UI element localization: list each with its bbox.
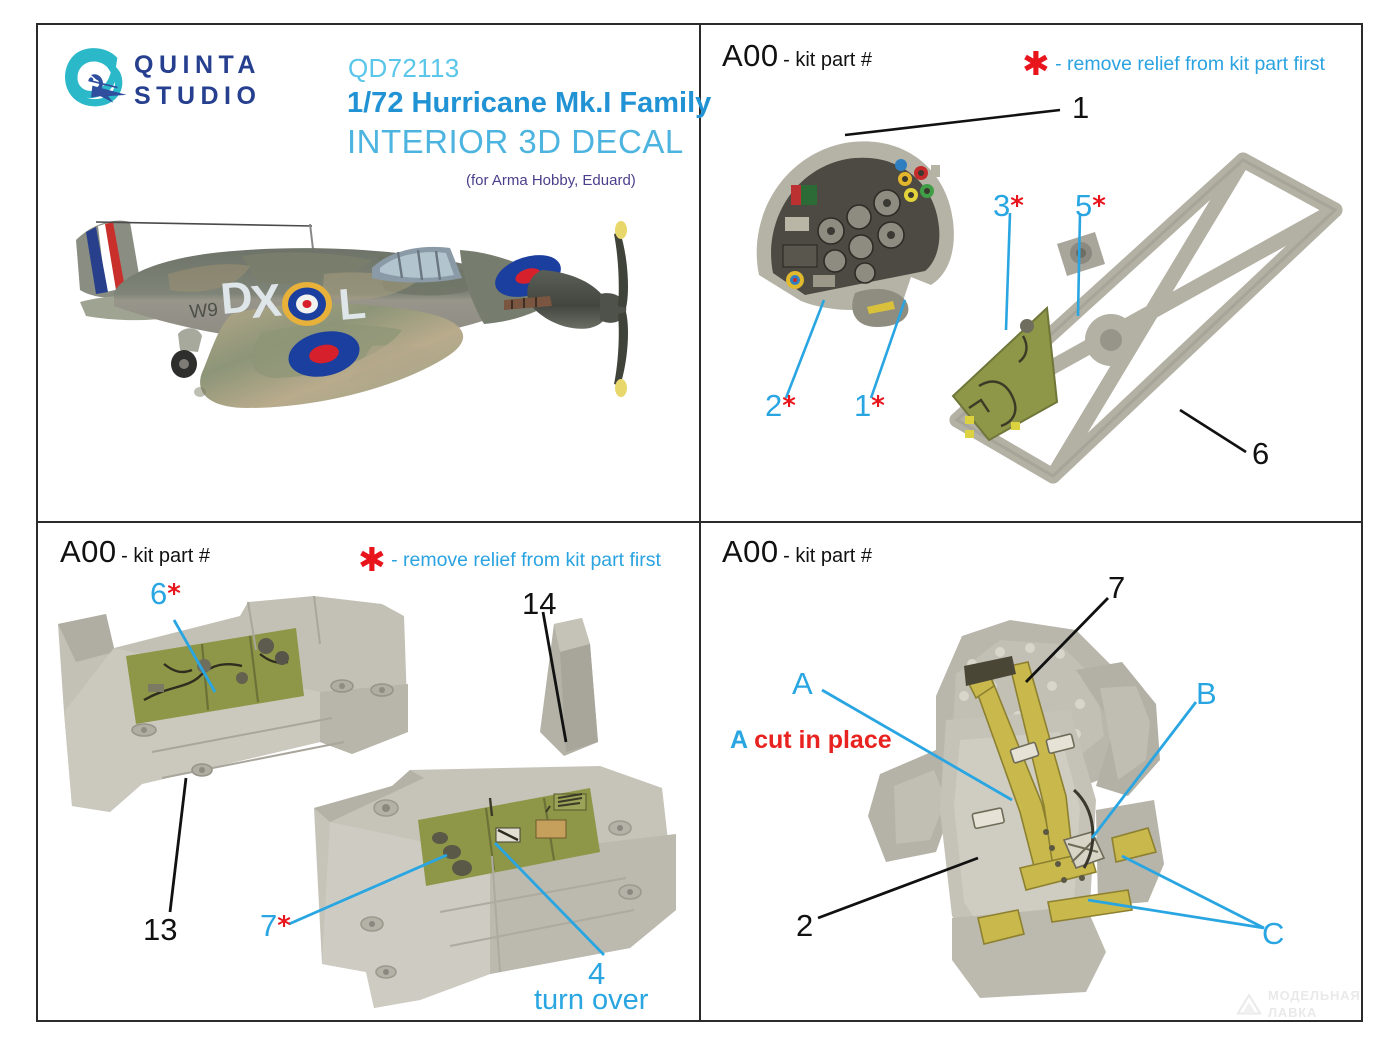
callout-C: C: [1262, 918, 1284, 949]
kit-part-prefix: A00: [722, 38, 779, 73]
product-type: INTERIOR 3D DECAL: [347, 123, 684, 161]
hurricane-aircraft-illustration: D X L W9: [72, 196, 642, 486]
svg-text:W9: W9: [189, 300, 219, 323]
pilot-seat-assembly: [860, 600, 1220, 1000]
compatibility-note: (for Arma Hobby, Eduard): [466, 172, 636, 189]
quinta-studio-logo: QUINTA STUDIO: [62, 44, 277, 116]
callout-3-star: 3*: [993, 190, 1024, 221]
product-code: QD72113: [348, 53, 459, 84]
kit-part-legend-bl: A00 - kit part #: [60, 534, 210, 570]
kit-part-suffix: - kit part #: [783, 49, 872, 71]
callout-14: 14: [522, 588, 556, 619]
callout-2-star: 2*: [765, 390, 796, 421]
brand-name: QUINTA STUDIO: [134, 50, 261, 112]
turn-over-note: turn over: [534, 986, 648, 1015]
kit-part-suffix: - kit part #: [121, 545, 210, 567]
kit-part-prefix: A00: [722, 534, 779, 569]
relief-legend-bl: ✱ - remove relief from kit part first: [358, 540, 661, 579]
callout-5-star: 5*: [1075, 190, 1106, 221]
sidewall-fragment-part: [520, 614, 630, 764]
callout-A: A: [792, 668, 813, 699]
callout-B: B: [1196, 678, 1217, 709]
callout-13: 13: [143, 914, 177, 945]
brand-line-2: STUDIO: [134, 81, 261, 112]
quinta-q-swirl-logo: [62, 46, 128, 112]
kit-part-legend-tr: A00 - kit part #: [722, 38, 872, 74]
watermark-line-1: МОДЕЛЬНАЯ: [1268, 987, 1361, 1004]
callout-2: 2: [796, 910, 813, 941]
cut-note-letter: A: [730, 726, 747, 754]
callout-1: 1: [1072, 92, 1089, 123]
callout-7: 7: [1108, 572, 1125, 603]
kit-part-legend-br: A00 - kit part #: [722, 534, 872, 570]
watermark-line-2: ЛАВКА: [1268, 1004, 1361, 1021]
kit-part-suffix: - kit part #: [783, 545, 872, 567]
callout-1-star: 1*: [854, 390, 885, 421]
callout-6-star: 6*: [150, 578, 181, 609]
asterisk-icon: ✱: [1022, 44, 1050, 83]
callout-6: 6: [1252, 438, 1269, 469]
relief-legend-text: - remove relief from kit part first: [1055, 53, 1325, 75]
callout-7-star: 7*: [260, 910, 291, 941]
kit-part-prefix: A00: [60, 534, 117, 569]
asterisk-icon: ✱: [358, 540, 386, 579]
relief-legend-tr: ✱ - remove relief from kit part first: [1022, 44, 1325, 83]
triangle-logo-icon: [1234, 991, 1264, 1019]
brand-line-1: QUINTA: [134, 50, 261, 81]
right-fuselage-sidewall-part: [300, 760, 700, 1022]
watermark: МОДЕЛЬНАЯ ЛАВКА: [1232, 985, 1382, 1031]
instruction-sheet: QUINTA STUDIO QD72113 1/72 Hurricane Mk.…: [0, 0, 1400, 1050]
svg-text:L: L: [337, 279, 368, 330]
svg-text:X: X: [248, 273, 283, 328]
relief-legend-text: - remove relief from kit part first: [391, 549, 661, 571]
product-subject: 1/72 Hurricane Mk.I Family: [347, 87, 711, 120]
